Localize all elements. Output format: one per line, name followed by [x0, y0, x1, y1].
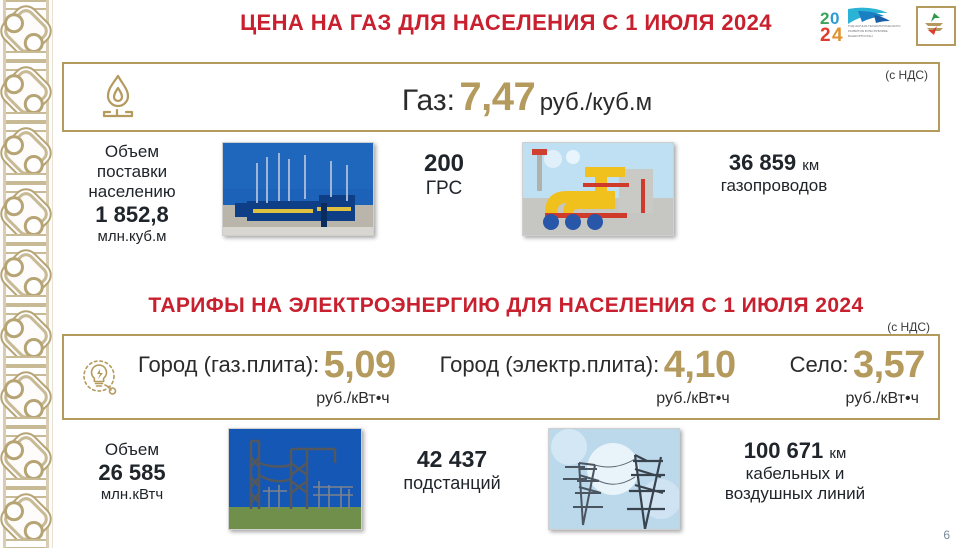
tariff-unit: руб./кВт•ч	[316, 390, 395, 408]
tariff-label: Село:	[790, 352, 849, 377]
republic-emblem-icon	[916, 6, 956, 46]
stat-value: 200	[374, 150, 514, 178]
tariff-unit: руб./кВт•ч	[656, 390, 735, 408]
svg-text:2: 2	[820, 25, 831, 45]
gas-pipeline-plant-photo	[522, 142, 674, 236]
power-section-heading: ТАРИФЫ НА ЭЛЕКТРОЭНЕРГИЮ ДЛЯ НАСЕЛЕНИЯ С…	[52, 294, 960, 318]
ornament-motif	[0, 183, 52, 244]
stat-sub: воздушных линий	[680, 484, 910, 504]
stat-value-row: 100 671 км	[680, 438, 910, 464]
substation-photo	[228, 428, 362, 530]
stat-power-volume: Объем 26 585 млн.кВтч	[52, 426, 212, 504]
stat-value-suffix: км	[829, 445, 846, 462]
stat-caption-line: поставки	[52, 162, 212, 182]
tariff-village: Село: 3,57 руб./кВт•ч	[786, 346, 929, 408]
stat-value: 1 852,8	[52, 202, 212, 228]
tariff-value: 3,57	[853, 344, 925, 386]
stat-supply-volume: Объем поставки населению 1 852,8 млн.куб…	[52, 136, 212, 246]
svg-text:4: 4	[832, 25, 843, 45]
tariff-value: 4,10	[664, 344, 736, 386]
gas-price-label: Газ:	[402, 84, 455, 117]
power-statistics-row: Объем 26 585 млн.кВтч	[52, 426, 960, 544]
stat-caption-line: населению	[52, 182, 212, 202]
tariff-label: Город (электр.плита):	[440, 352, 660, 377]
gas-price-value: 7,47	[459, 75, 535, 119]
stat-caption-line: Объем	[52, 142, 212, 162]
stat-power-lines: 100 671 км кабельных и воздушных линий	[680, 426, 910, 504]
tariff-electric-stove: Город (электр.плита): 4,10 руб./кВт•ч	[436, 346, 740, 408]
gas-price-unit: руб./куб.м	[540, 89, 652, 116]
stat-sub: газопроводов	[674, 176, 874, 196]
ornament-motif	[0, 122, 52, 183]
tariff-main-line: Город (газ.плита): 5,09	[138, 346, 396, 384]
ornament-motif	[0, 305, 52, 366]
stat-value-suffix: км	[802, 157, 819, 174]
svg-text:РАЗВИТИЯ В РЕСПУБЛИКЕ: РАЗВИТИЯ В РЕСПУБЛИКЕ	[848, 29, 888, 33]
decorative-border-ornament	[0, 0, 53, 548]
power-towers-photo	[548, 428, 680, 530]
stat-sub: подстанций	[362, 473, 542, 494]
svg-text:БАШКОРТОСТАН: БАШКОРТОСТАН	[848, 34, 873, 38]
ornament-motif	[0, 0, 52, 61]
stat-value-row: 36 859 км	[674, 150, 874, 176]
gas-distribution-station-photo	[222, 142, 374, 236]
gas-price-line: Газ: 7,47 руб./куб.м	[144, 75, 910, 120]
tariff-main-line: Город (электр.плита): 4,10	[440, 346, 736, 384]
ornament-motif	[0, 61, 52, 122]
stat-value: 100 671	[744, 438, 824, 463]
gas-statistics-row: Объем поставки населению 1 852,8 млн.куб…	[52, 136, 960, 266]
ornament-motif	[0, 488, 52, 548]
power-vat-note: (с НДС)	[887, 320, 930, 334]
stat-sub: кабельных и	[680, 464, 910, 484]
tariff-unit: руб./кВт•ч	[846, 390, 925, 408]
stat-value: 42 437	[362, 446, 542, 473]
year-2024-logo: 2 0 2 4 ГОД НАУЧНО-ТЕХНОЛОГИЧЕСКОГО РАЗВ…	[818, 5, 910, 45]
lightbulb-energy-icon	[72, 356, 128, 398]
tariff-main-line: Село: 3,57	[790, 346, 925, 384]
page-number: 6	[943, 528, 950, 542]
ornament-motif	[0, 427, 52, 488]
stat-caption-line: Объем	[52, 440, 212, 460]
tariff-gas-stove: Город (газ.плита): 5,09 руб./кВт•ч	[134, 346, 400, 408]
gas-price-panel: (с НДС) Газ: 7,47 руб./куб.м	[62, 62, 940, 132]
slide-root: ЦЕНА НА ГАЗ ДЛЯ НАСЕЛЕНИЯ С 1 ИЮЛЯ 2024 …	[0, 0, 960, 548]
stat-gas-distribution-stations: 200 ГРС	[374, 136, 514, 201]
svg-text:ГОД НАУЧНО-ТЕХНОЛОГИЧЕСКОГО: ГОД НАУЧНО-ТЕХНОЛОГИЧЕСКОГО	[848, 24, 901, 28]
stat-gas-pipelines: 36 859 км газопроводов	[674, 136, 874, 196]
power-tariff-panel: (с НДС) Город (газ.плита): 5,09 руб./кВт…	[62, 334, 940, 420]
stat-sub: млн.куб.м	[52, 228, 212, 246]
stat-value: 26 585	[52, 460, 212, 486]
tariff-label: Город (газ.плита):	[138, 352, 319, 377]
ornament-motif	[0, 366, 52, 427]
stat-sub: ГРС	[374, 178, 514, 200]
tariff-value: 5,09	[324, 344, 396, 386]
ornament-motif	[0, 244, 52, 305]
stat-substations: 42 437 подстанций	[362, 426, 542, 494]
stat-value: 36 859	[729, 150, 796, 175]
stat-sub: млн.кВтч	[52, 486, 212, 504]
